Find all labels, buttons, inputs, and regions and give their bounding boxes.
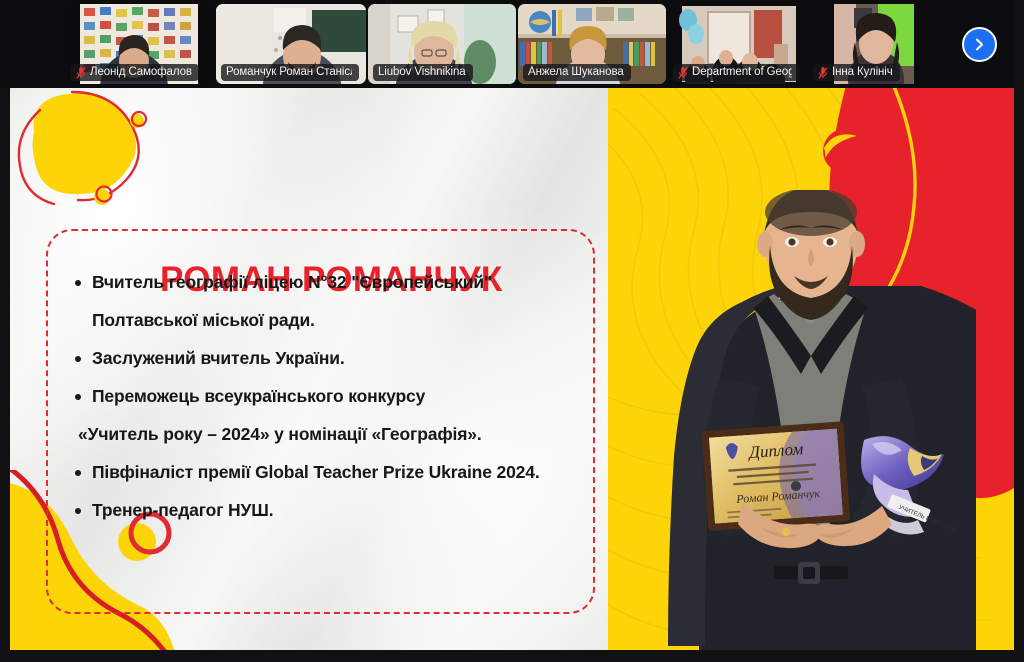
zoom-meeting-window: Леонід Самофалов Романчук Роман Станісл…: [0, 0, 1024, 662]
participant-name-badge: Liubov Vishnikina: [373, 64, 473, 81]
participant-tile[interactable]: Liubov Vishnikina: [368, 4, 516, 84]
list-item: Полтавської міської ради.: [70, 301, 575, 339]
teacher-photo: Диплом Роман Романчук: [646, 190, 976, 650]
participant-tile-active[interactable]: Романчук Роман Станісл…: [216, 4, 366, 84]
slide-photo-panel: Диплом Роман Романчук: [608, 88, 1014, 650]
mic-muted-icon: [678, 67, 688, 79]
list-item: «Учитель року – 2024» у номінації «Геогр…: [70, 415, 575, 453]
shared-presentation-slide: РОМАН РОМАНЧУК Вчитель географії ліцею N…: [10, 88, 1014, 650]
chevron-right-icon: [972, 37, 987, 52]
window-bottom-edge: [0, 650, 1024, 662]
participant-name-badge: Анжела Шуканова: [523, 64, 631, 81]
list-item: Вчитель географії ліцею N°32 "Європейськ…: [70, 263, 575, 301]
participant-tile[interactable]: Department of Geogra…: [668, 4, 806, 84]
achievements-list: Вчитель географії ліцею N°32 "Європейськ…: [70, 263, 575, 529]
svg-text:Диплом: Диплом: [747, 439, 804, 462]
participant-name-badge: Романчук Роман Станісл…: [221, 64, 359, 81]
red-crescent-icon: [820, 126, 870, 176]
participant-name-badge: Леонід Самофалов: [71, 64, 199, 81]
participant-tile[interactable]: Леонід Самофалов: [66, 4, 214, 84]
mic-muted-icon: [818, 67, 828, 79]
list-item: Переможець всеукраїнського конкурсу: [70, 377, 575, 415]
participant-filmstrip[interactable]: Леонід Самофалов Романчук Роман Станісл…: [0, 0, 1024, 88]
participant-name: Liubov Vishnikina: [378, 64, 466, 81]
list-item: Заслужений вчитель України.: [70, 339, 575, 377]
participant-tile[interactable]: Інна Кулініч: [808, 4, 940, 84]
participant-name-badge: Department of Geogra…: [673, 64, 799, 81]
participant-name: Анжела Шуканова: [528, 64, 624, 81]
next-participants-button[interactable]: [962, 27, 997, 62]
list-item: Тренер-педагог НУШ.: [70, 491, 575, 529]
participant-tile[interactable]: Анжела Шуканова: [518, 4, 666, 84]
participant-name: Інна Кулініч: [832, 64, 893, 81]
participant-name: Department of Geogra…: [692, 64, 792, 81]
list-item: Півфіналіст премії Global Teacher Prize …: [70, 453, 575, 491]
bullet-list-box: Вчитель географії ліцею N°32 "Європейськ…: [46, 229, 595, 614]
window-right-edge: [1014, 0, 1024, 662]
mic-muted-icon: [76, 67, 86, 79]
participant-name: Леонід Самофалов: [90, 64, 192, 81]
participant-name: Романчук Роман Станісл…: [226, 64, 352, 81]
participant-name-badge: Інна Кулініч: [813, 64, 900, 81]
